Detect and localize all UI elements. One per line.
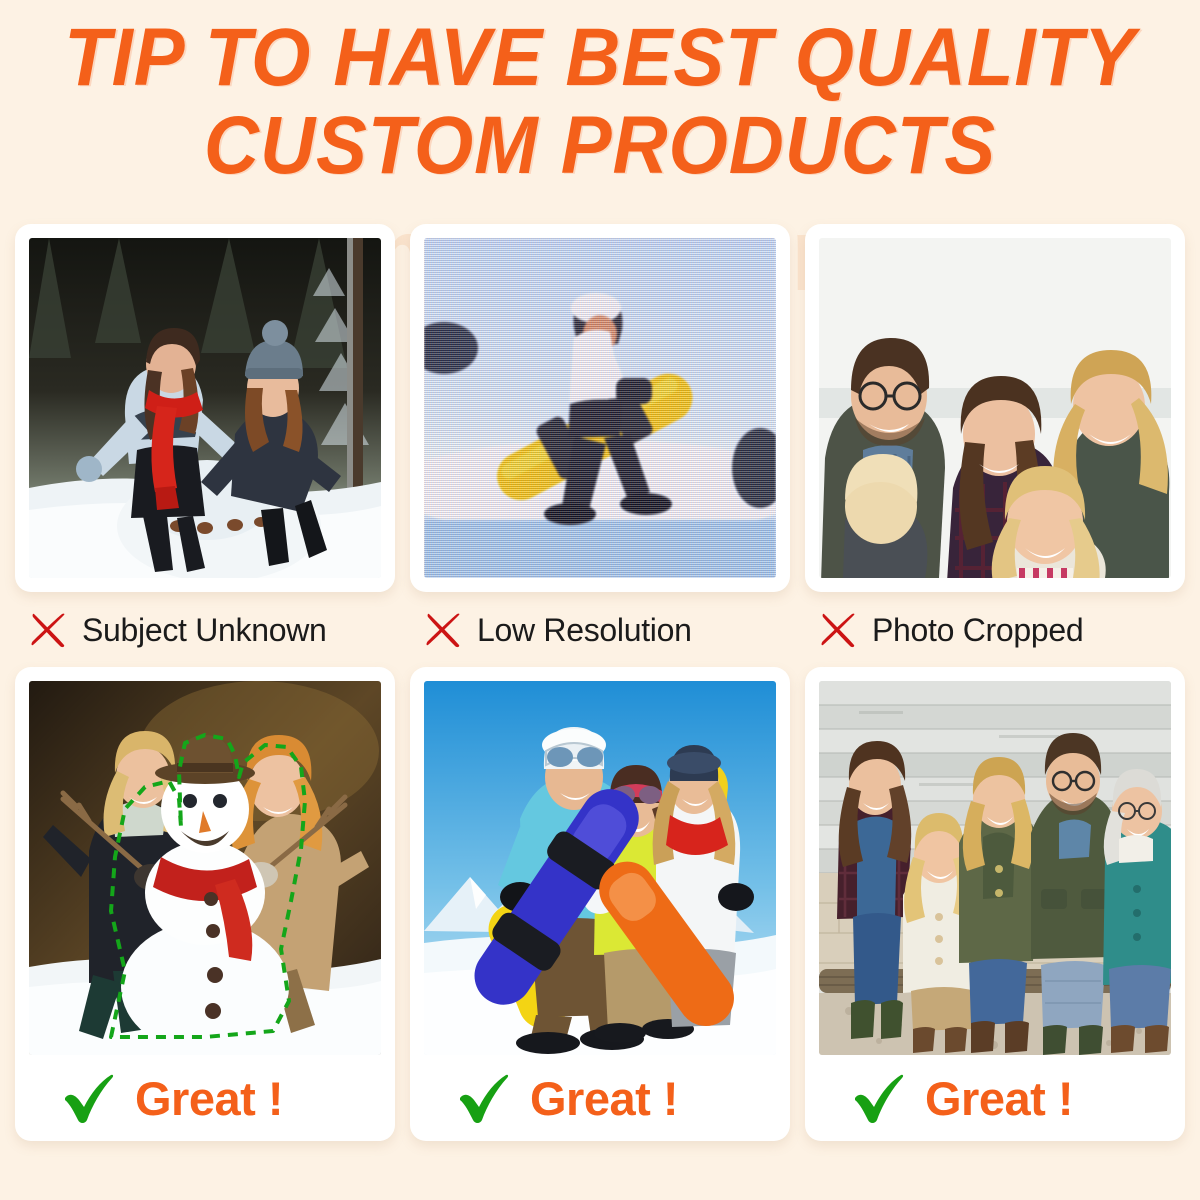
bad-label-row: Subject Unknown bbox=[15, 601, 395, 659]
good-label-row: Great ! bbox=[29, 1055, 381, 1141]
bad-label-text: Low Resolution bbox=[477, 612, 692, 649]
good-label-text: Great ! bbox=[135, 1071, 283, 1126]
check-mark-icon bbox=[851, 1070, 907, 1126]
title-line-2: CUSTOM PRODUCTS bbox=[42, 102, 1158, 190]
photo-card: Great ! bbox=[15, 667, 395, 1141]
photo-cropped bbox=[819, 238, 1171, 578]
x-mark-icon bbox=[424, 610, 464, 650]
bad-label-row: Low Resolution bbox=[410, 601, 790, 659]
page-title: TIP TO HAVE BEST QUALITY CUSTOM PRODUCTS bbox=[0, 14, 1200, 190]
photo-card: Great ! bbox=[805, 667, 1185, 1141]
bad-label-text: Photo Cropped bbox=[872, 612, 1083, 649]
photo-card: Great ! bbox=[410, 667, 790, 1141]
bad-label-text: Subject Unknown bbox=[82, 612, 327, 649]
example-cell-low-resolution: Low Resolution bbox=[410, 224, 790, 659]
example-cell-subject-unknown: Subject Unknown bbox=[15, 224, 395, 659]
bad-label-row: Photo Cropped bbox=[805, 601, 1185, 659]
photo-card bbox=[15, 224, 395, 592]
photo-snowman bbox=[29, 681, 381, 1055]
example-cell-photo-cropped: Photo Cropped bbox=[805, 224, 1185, 659]
good-examples-row: Great ! bbox=[0, 667, 1200, 1141]
bad-examples-row: Subject Unknown bbox=[0, 224, 1200, 659]
photo-family-barn bbox=[819, 681, 1171, 1055]
good-label-row: Great ! bbox=[424, 1055, 776, 1141]
good-label-text: Great ! bbox=[530, 1071, 678, 1126]
x-mark-icon bbox=[819, 610, 859, 650]
check-mark-icon bbox=[456, 1070, 512, 1126]
example-cell-snowman: Great ! bbox=[15, 667, 395, 1141]
examples-grid: Subject Unknown bbox=[0, 224, 1200, 1141]
example-cell-snowboarders: Great ! bbox=[410, 667, 790, 1141]
check-mark-icon bbox=[61, 1070, 117, 1126]
good-label-row: Great ! bbox=[819, 1055, 1171, 1141]
photo-snowboarders bbox=[424, 681, 776, 1055]
good-label-text: Great ! bbox=[925, 1071, 1073, 1126]
example-cell-family-barn: Great ! bbox=[805, 667, 1185, 1141]
photo-low-resolution bbox=[424, 238, 776, 578]
photo-card bbox=[805, 224, 1185, 592]
title-line-1: TIP TO HAVE BEST QUALITY bbox=[42, 14, 1158, 102]
photo-subject-unknown bbox=[29, 238, 381, 578]
x-mark-icon bbox=[29, 610, 69, 650]
photo-card bbox=[410, 224, 790, 592]
